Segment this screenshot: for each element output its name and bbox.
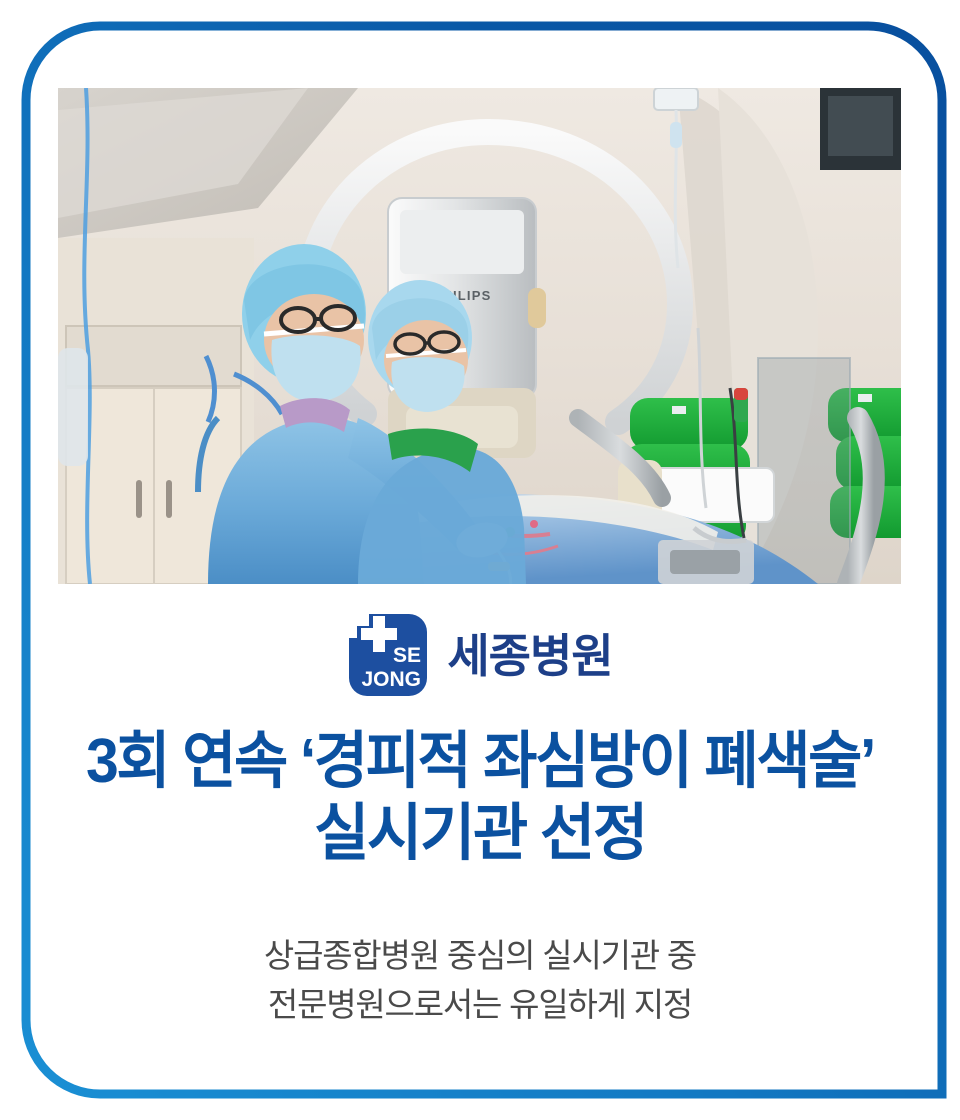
headline-line-1: 3회 연속 ‘경피적 좌심방이 폐색술’ bbox=[24, 726, 936, 798]
brand-lockup: SE JONG 세종병원 bbox=[0, 612, 960, 698]
brand-wordmark: 세종병원 bbox=[447, 633, 612, 679]
logo-jong-text: JONG bbox=[362, 668, 422, 691]
hero-photo: PHILIPS bbox=[58, 88, 901, 584]
headline-line-2: 실시기관 선정 bbox=[14, 798, 945, 870]
subtitle-line-2: 전문병원으로서는 유일하게 지정 bbox=[0, 981, 960, 1030]
cath-lab-illustration: PHILIPS bbox=[58, 88, 901, 584]
page-title: 3회 연속 ‘경피적 좌심방이 폐색술’ 실시기관 선정 bbox=[0, 726, 960, 870]
subtitle-line-1: 상급종합병원 중심의 실시기관 중 bbox=[0, 932, 960, 981]
sejong-hospital-logo-icon: SE JONG bbox=[347, 612, 429, 698]
poster-card: PHILIPS bbox=[0, 0, 960, 1120]
logo-se-text: SE bbox=[393, 644, 421, 667]
subtitle: 상급종합병원 중심의 실시기관 중 전문병원으로서는 유일하게 지정 bbox=[0, 932, 960, 1030]
